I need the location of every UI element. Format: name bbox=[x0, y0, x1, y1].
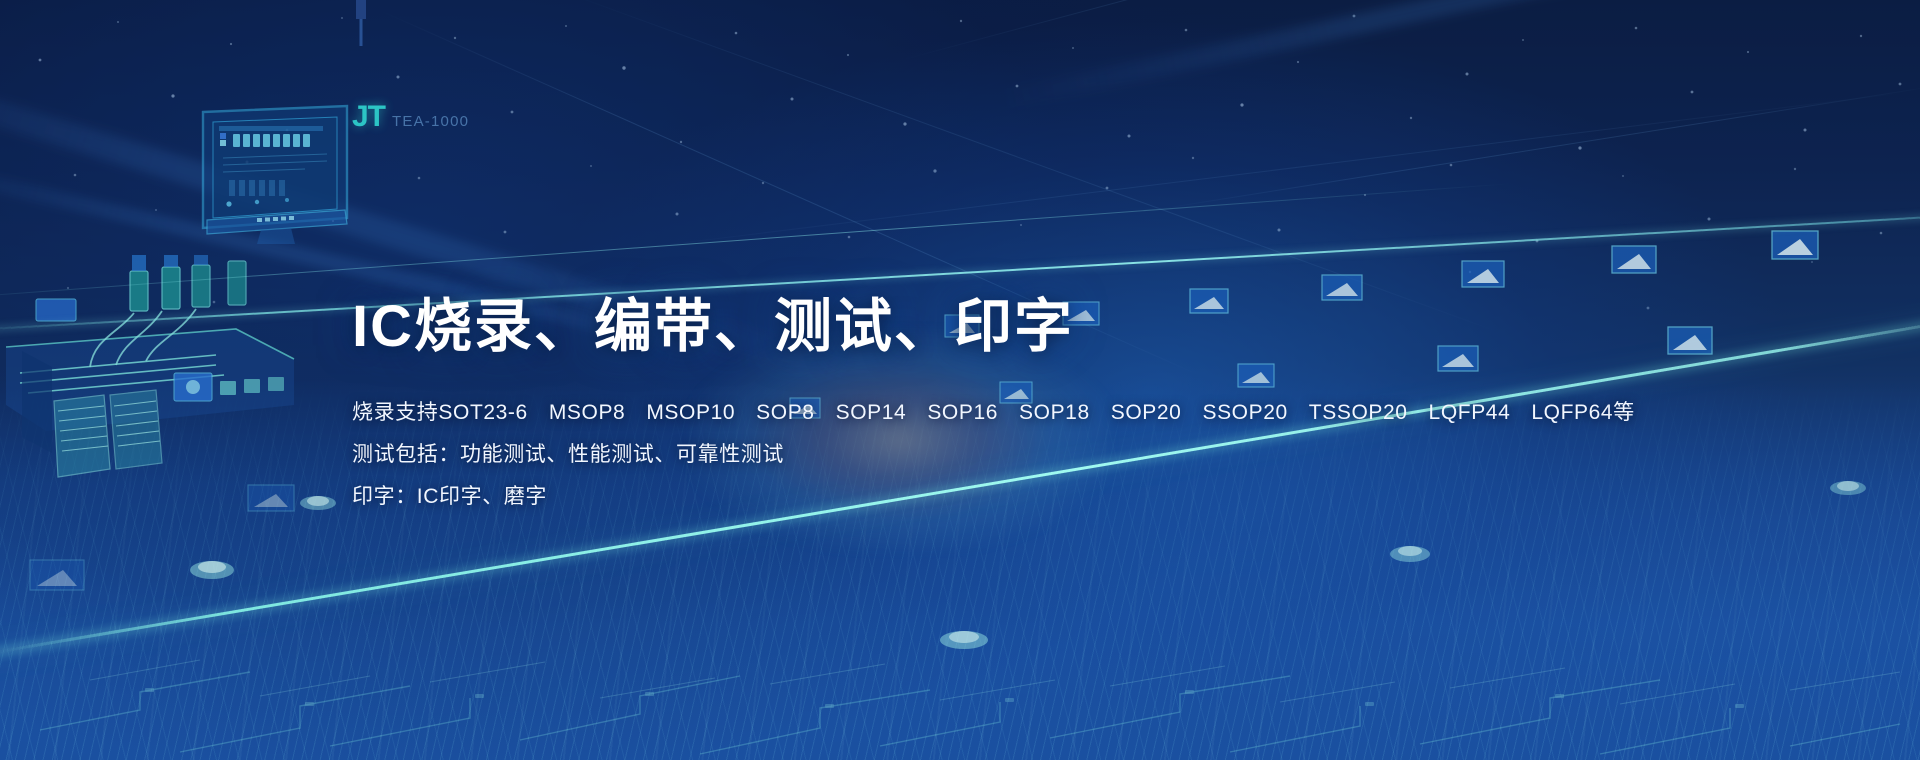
package-item: TSSOP20 bbox=[1309, 399, 1408, 427]
package-item: MSOP8 bbox=[549, 399, 626, 427]
hero-banner: JT TEA-1000 bbox=[0, 0, 1920, 760]
package-item: LQFP64 bbox=[1531, 399, 1613, 427]
light-beam-thin-4 bbox=[1150, 85, 1920, 211]
package-list: 烧录支持SOT23-6 MSOP8 MSOP10 SOP8 SOP14 SOP1… bbox=[352, 399, 1635, 427]
package-item: SOP20 bbox=[1111, 399, 1182, 427]
light-beam-ambient-3 bbox=[998, 0, 1920, 110]
crt-monitor-icon bbox=[195, 100, 375, 245]
package-item: SSOP20 bbox=[1202, 399, 1287, 427]
light-beam-thin-5 bbox=[620, 92, 1910, 251]
package-item: LQFP44 bbox=[1429, 399, 1511, 427]
light-beam-thin-2 bbox=[560, 0, 1500, 333]
package-item: SOP16 bbox=[927, 399, 998, 427]
packages-lead-label: 烧录支持SOT23-6 bbox=[352, 399, 528, 427]
marking-line: 印字：IC印字、磨字 bbox=[352, 483, 1572, 511]
light-beam-thin-3 bbox=[900, 0, 1770, 61]
brand-model-label: TEA-1000 bbox=[392, 114, 469, 129]
banner-subtext: 烧录支持SOT23-6 MSOP8 MSOP10 SOP8 SOP14 SOP1… bbox=[352, 399, 1572, 512]
package-item: SOP18 bbox=[1019, 399, 1090, 427]
ceiling-sensor-icon bbox=[348, 0, 374, 46]
packages-tail-label: 等 bbox=[1613, 399, 1635, 427]
page-title: IC烧录、编带、测试、印字 bbox=[352, 296, 1572, 359]
brand-logo: JT TEA-1000 bbox=[352, 102, 469, 132]
package-item: SOP8 bbox=[756, 399, 814, 427]
brand-mark-jt: JT bbox=[352, 102, 385, 132]
packages-line: 烧录支持SOT23-6 MSOP8 MSOP10 SOP8 SOP14 SOP1… bbox=[352, 399, 1572, 427]
banner-content: IC烧录、编带、测试、印字 烧录支持SOT23-6 MSOP8 MSOP10 S… bbox=[352, 296, 1572, 512]
shelf-light-upper bbox=[0, 183, 1516, 301]
package-item: MSOP10 bbox=[646, 399, 735, 427]
testing-line: 测试包括：功能测试、性能测试、可靠性测试 bbox=[352, 441, 1572, 469]
package-item: SOP14 bbox=[836, 399, 907, 427]
industrial-machine-icon bbox=[6, 255, 296, 485]
